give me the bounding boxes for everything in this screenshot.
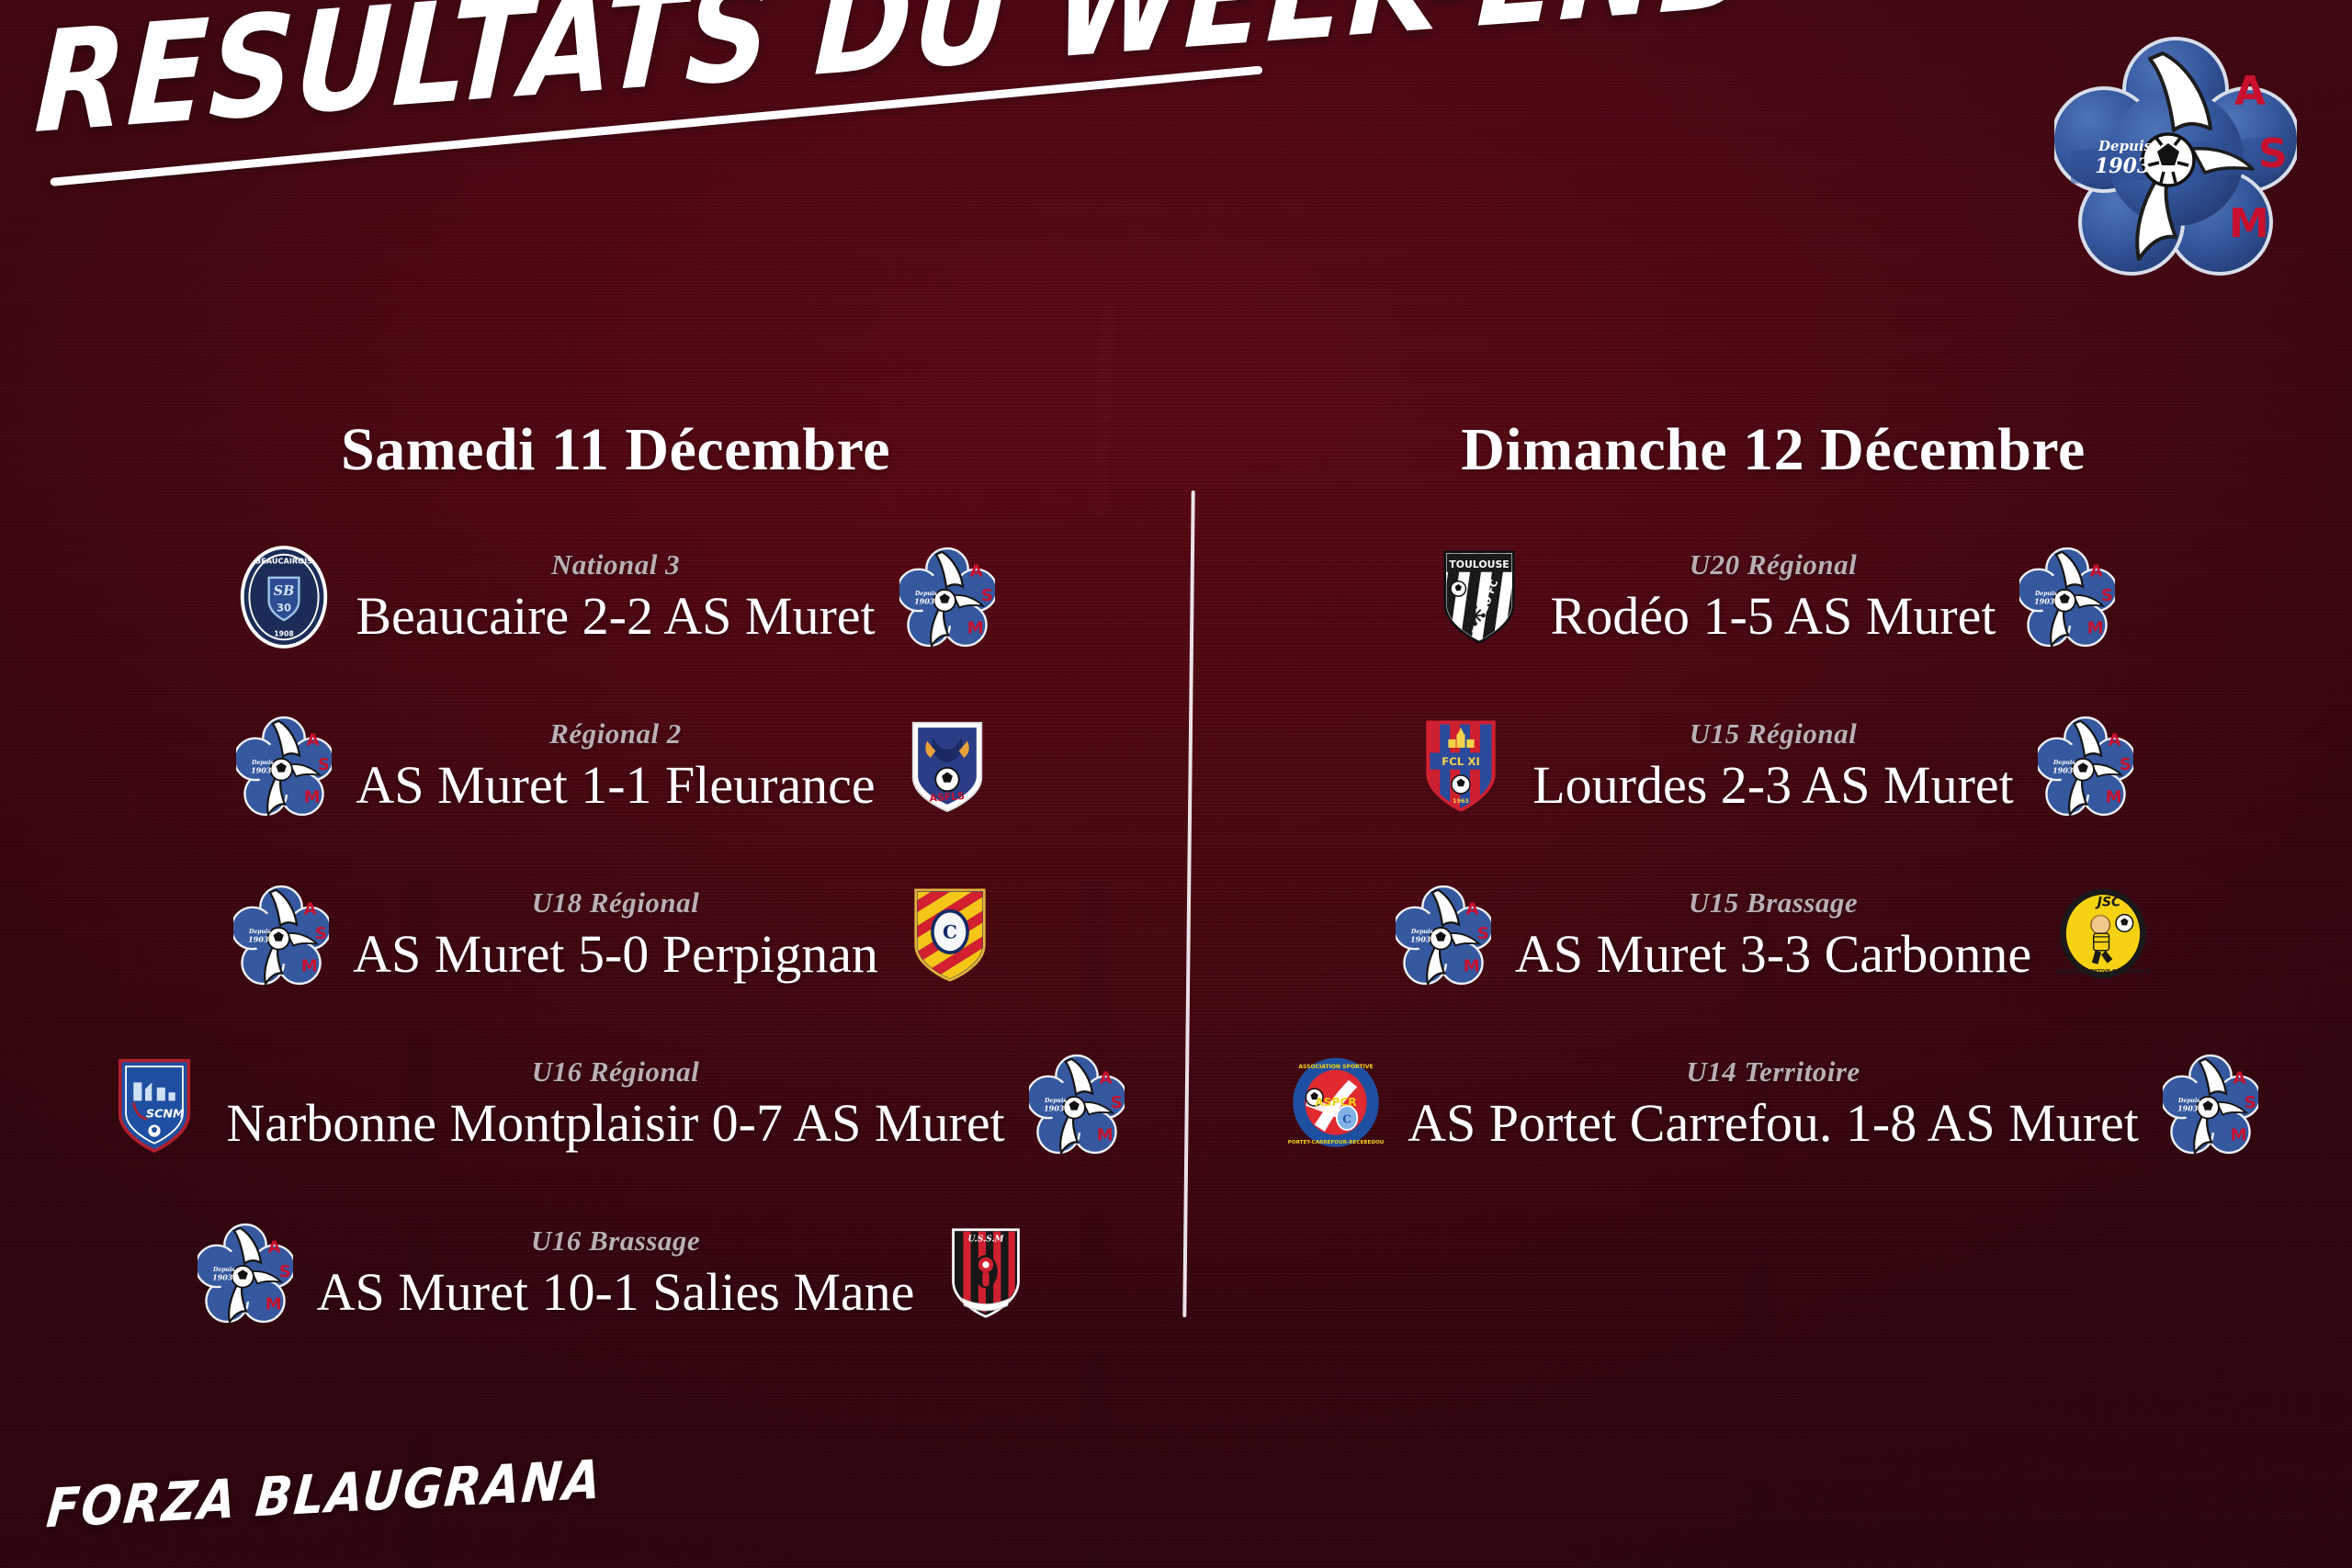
match-row: TOULOUSE RODEO FC <box>1259 529 2288 665</box>
stade-beaucairois-logo-icon: SB 30 BEAUCAIROIS 1908 <box>229 540 339 654</box>
match-result: Beaucaire 2-2 AS Muret <box>356 585 875 647</box>
page-title: RESULTATS DU WEEK-END <box>32 0 1762 154</box>
match-text: U15 Brassage AS Muret 3-3 Carbonne <box>1511 886 2035 985</box>
svg-text:M: M <box>2106 788 2122 807</box>
toulouse-rodeo-fc-logo-icon: TOULOUSE RODEO FC <box>1424 540 1534 654</box>
match-row: SB 30 BEAUCAIROIS 1908 National 3 Beauca… <box>119 529 1112 665</box>
svg-text:JSC: JSC <box>2095 895 2121 909</box>
svg-text:M: M <box>2231 1126 2247 1145</box>
match-category: U15 Brassage <box>1515 886 2031 919</box>
match-row: Depuis 1903 A S M U15 Brassage AS Muret … <box>1259 867 2288 1003</box>
match-result: Lourdes 2-3 AS Muret <box>1532 754 2014 816</box>
svg-text:1903: 1903 <box>2035 597 2056 606</box>
svg-text:M: M <box>265 1295 281 1314</box>
match-category: U14 Territoire <box>1408 1055 2139 1089</box>
column-saturday: Samedi 11 Décembre SB 30 BEAUCAIROIS 190… <box>119 415 1112 1374</box>
svg-text:A: A <box>267 1237 280 1257</box>
svg-text:U.S.S.M: U.S.S.M <box>968 1234 1005 1244</box>
svg-text:SCNM: SCNM <box>146 1107 185 1121</box>
svg-text:S: S <box>2120 755 2131 774</box>
svg-text:1963: 1963 <box>1453 798 1469 805</box>
day-title-sunday: Dimanche 12 Décembre <box>1259 415 2288 485</box>
svg-text:M: M <box>2087 619 2104 638</box>
match-row: SCNM U16 Régional Narbonne Montplaisir 0… <box>119 1036 1112 1172</box>
svg-text:SB: SB <box>274 583 295 599</box>
day-title-saturday: Samedi 11 Décembre <box>119 415 1112 485</box>
match-result: AS Muret 1-1 Fleurance <box>356 754 875 816</box>
aspcr-portet-logo-icon: C ASPCR ASSOCIATION SPORTIVE PORTET-CARR… <box>1281 1047 1391 1161</box>
svg-text:S: S <box>2101 586 2113 605</box>
svg-text:S: S <box>2258 130 2288 177</box>
svg-text:1903: 1903 <box>248 935 269 944</box>
svg-text:1903: 1903 <box>212 1273 233 1282</box>
as-muret-logo-icon: Depuis 1903 A S M <box>1022 1047 1132 1161</box>
svg-text:A: A <box>2108 730 2120 750</box>
column-sunday: Dimanche 12 Décembre <box>1259 415 2288 1205</box>
poster-title-block: RESULTATS DU WEEK-END <box>31 0 1766 175</box>
svg-text:M: M <box>967 619 983 638</box>
svg-text:M: M <box>304 788 321 807</box>
svg-text:TOULOUSE: TOULOUSE <box>1449 558 1509 570</box>
svg-text:1903: 1903 <box>2177 1104 2199 1113</box>
svg-text:M: M <box>2229 200 2269 247</box>
svg-text:ASFLS: ASFLS <box>929 790 965 805</box>
match-text: U16 Brassage AS Muret 10-1 Salies Mane <box>313 1224 919 1323</box>
as-muret-logo-icon: Depuis 1903 A S M <box>226 878 336 992</box>
match-row: Depuis 1903 A S M U18 Régional AS Muret … <box>119 867 1112 1003</box>
as-muret-logo-icon: Depuis 1903 A S M <box>190 1216 300 1330</box>
fcl-xi-lourdes-logo-icon: FCL XI 1963 <box>1406 709 1516 823</box>
svg-text:A: A <box>307 730 320 750</box>
svg-text:C: C <box>1342 1113 1351 1126</box>
jsc-carbonne-logo-icon: JSC JEUNESSE SPORTIVE CARBONNAISE <box>2048 878 2158 992</box>
svg-text:PORTET-CARREFOUR-RECEBEDOU: PORTET-CARREFOUR-RECEBEDOU <box>1288 1140 1384 1145</box>
as-muret-logo-icon: Depuis 1903 A S M <box>229 709 339 823</box>
svg-text:1903: 1903 <box>1044 1104 1065 1113</box>
svg-text:1903: 1903 <box>2095 154 2151 178</box>
results-poster: RESULTATS DU WEEK-END <box>0 0 2352 1568</box>
match-result: AS Muret 5-0 Perpignan <box>353 923 878 985</box>
svg-text:ASSOCIATION SPORTIVE: ASSOCIATION SPORTIVE <box>1298 1064 1373 1070</box>
match-text: U16 Régional Narbonne Montplaisir 0-7 AS… <box>222 1055 1008 1154</box>
svg-text:A: A <box>969 561 982 581</box>
slogan-block: FORZA BLAUGRANA <box>41 1456 600 1540</box>
svg-text:Depuis: Depuis <box>2098 138 2153 154</box>
svg-text:30: 30 <box>277 601 291 614</box>
match-text: National 3 Beaucaire 2-2 AS Muret <box>352 548 878 647</box>
perpignan-canet-logo-icon: C <box>895 878 1005 992</box>
match-row: Depuis 1903 A S M U16 Brassage AS Muret … <box>119 1205 1112 1341</box>
svg-text:S: S <box>981 586 993 605</box>
svg-text:S: S <box>315 924 327 943</box>
match-category: U15 Régional <box>1532 717 2014 750</box>
as-muret-logo-icon: Depuis 1903 A S M <box>2012 540 2122 654</box>
match-text: U20 Régional Rodéo 1-5 AS Muret <box>1547 548 2000 647</box>
match-category: Régional 2 <box>356 717 875 750</box>
svg-text:1903: 1903 <box>1410 935 1431 944</box>
slogan-text: FORZA BLAUGRANA <box>44 1450 605 1540</box>
as-muret-logo-icon: Depuis 1903 A S M <box>2155 1047 2266 1161</box>
svg-text:S: S <box>2245 1093 2256 1112</box>
svg-text:ASPCR: ASPCR <box>1315 1096 1357 1109</box>
column-divider <box>1182 491 1194 1317</box>
match-row: FCL XI 1963 U15 Régional <box>1259 698 2288 834</box>
match-category: U20 Régional <box>1551 548 1996 581</box>
svg-text:S: S <box>1477 924 1489 943</box>
svg-text:BEAUCAIROIS: BEAUCAIROIS <box>255 556 312 565</box>
match-text: U15 Régional Lourdes 2-3 AS Muret <box>1529 717 2018 816</box>
ussm-salies-mane-logo-icon: U.S.S.M <box>931 1216 1041 1330</box>
match-text: Régional 2 AS Muret 1-1 Fleurance <box>352 717 878 816</box>
svg-text:A: A <box>2090 561 2103 581</box>
svg-text:1908: 1908 <box>275 629 294 637</box>
as-muret-logo-icon: Depuis 1903 A S M <box>892 540 1002 654</box>
svg-text:A: A <box>2234 68 2266 115</box>
match-category: National 3 <box>356 548 875 581</box>
svg-text:A: A <box>1465 899 1478 919</box>
match-category: U16 Brassage <box>317 1224 915 1258</box>
match-category: U18 Régional <box>353 886 878 919</box>
match-result: Rodéo 1-5 AS Muret <box>1551 585 1996 647</box>
svg-text:A: A <box>2233 1068 2245 1088</box>
as-muret-logo-icon: Depuis 1903 A S M <box>1388 878 1498 992</box>
match-row: C ASPCR ASSOCIATION SPORTIVE PORTET-CARR… <box>1259 1036 2288 1172</box>
svg-text:1903: 1903 <box>251 766 272 775</box>
match-text: U18 Régional AS Muret 5-0 Perpignan <box>349 886 882 985</box>
svg-text:M: M <box>301 957 318 976</box>
scnm-narbonne-logo-icon: SCNM <box>99 1047 209 1161</box>
svg-text:1903: 1903 <box>914 597 935 606</box>
svg-text:M: M <box>1464 957 1480 976</box>
svg-text:A: A <box>304 899 317 919</box>
svg-text:JEUNESSE SPORTIVE CARBONNAISE: JEUNESSE SPORTIVE CARBONNAISE <box>2055 969 2151 975</box>
match-category: U16 Régional <box>226 1055 1004 1089</box>
match-text: U14 Territoire AS Portet Carrefou. 1-8 A… <box>1404 1055 2143 1154</box>
svg-text:S: S <box>278 1262 290 1281</box>
match-result: AS Muret 10-1 Salies Mane <box>317 1261 915 1323</box>
asfls-fleurance-logo-icon: ASFLS <box>892 709 1002 823</box>
svg-text:M: M <box>1096 1126 1113 1145</box>
match-result: Narbonne Montplaisir 0-7 AS Muret <box>226 1092 1004 1154</box>
as-muret-crest-icon: Depuis 1903 A S M <box>2054 33 2297 279</box>
svg-text:S: S <box>1111 1093 1123 1112</box>
as-muret-logo-icon: Depuis 1903 A S M <box>2030 709 2141 823</box>
svg-text:S: S <box>318 755 330 774</box>
match-result: AS Portet Carrefou. 1-8 AS Muret <box>1408 1092 2139 1154</box>
svg-text:C: C <box>943 921 957 943</box>
svg-text:FCL XI: FCL XI <box>1442 755 1480 768</box>
match-result: AS Muret 3-3 Carbonne <box>1515 923 2031 985</box>
svg-text:1903: 1903 <box>2052 766 2074 775</box>
match-row: Depuis 1903 A S M Régional 2 AS Muret 1-… <box>119 698 1112 834</box>
svg-text:A: A <box>1099 1068 1112 1088</box>
